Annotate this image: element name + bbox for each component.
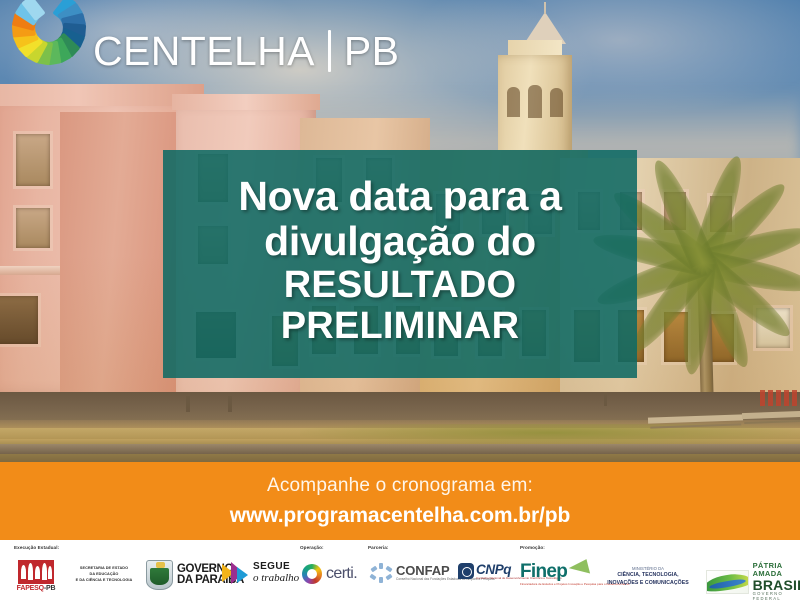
brand-wordmark: CENTELHA PB — [93, 28, 399, 75]
callout-subtitle: Acompanhe o cronograma em: — [267, 475, 533, 497]
caption-execucao: Execução Estadual: — [14, 545, 59, 550]
footer-logo-bar: Execução Estadual: Operação: Parceria: P… — [0, 540, 800, 600]
fapesq-suffix: PB — [46, 585, 55, 592]
outdoor-chairs — [760, 390, 800, 406]
brand-state: PB — [344, 28, 400, 75]
brasil-wordmark: PÁTRIA AMADA BRASIL GOVERNO FEDERAL — [753, 562, 800, 600]
brasil-line-1: PÁTRIA AMADA — [753, 562, 800, 578]
caption-promocao: Promoção: — [520, 545, 545, 550]
centelha-burst-icon — [14, 16, 84, 86]
caption-parceria: Parceria: — [368, 545, 389, 550]
headline-panel: Nova data para a divulgação do RESULTADO… — [163, 150, 637, 378]
certi-ring-icon — [302, 564, 322, 584]
secretaria-line-3: E DA CIÊNCIA E TECNOLOGIA — [76, 578, 133, 582]
ministerio-line-2: INOVAÇÕES E COMUNICAÇÕES — [607, 580, 689, 586]
brand-logo: CENTELHA PB — [14, 16, 399, 86]
secretaria-line-2: DA EDUCAÇÃO — [90, 572, 119, 576]
secretaria-logo: SECRETARIA DE ESTADO DA EDUCAÇÃO E DA CI… — [68, 566, 140, 584]
headline-line-2: divulgação do — [264, 220, 536, 263]
callout-url[interactable]: www.programacentelha.com.br/pb — [230, 504, 570, 528]
ministerio-line-1: CIÊNCIA, TECNOLOGIA, — [617, 572, 678, 578]
caption-operacao: Operação: — [300, 545, 324, 550]
headline-line-4: PRELIMINAR — [281, 307, 519, 347]
fapesq-people-icon — [18, 560, 54, 584]
brasil-flag-swoosh-icon — [706, 570, 749, 594]
brasil-line-2: BRASIL — [753, 578, 800, 593]
curb — [0, 444, 800, 454]
certi-logo: certi. — [302, 564, 357, 584]
grass-strip — [300, 424, 800, 446]
segue-line-1: SEGUE — [253, 562, 299, 573]
segue-wordmark: SEGUE o trabalho — [253, 562, 299, 584]
certi-wordmark: certi. — [326, 565, 357, 583]
confap-burst-icon — [370, 563, 392, 583]
poster-canvas: CENTELHA PB Nova data para a divulgação … — [0, 0, 800, 600]
segue-line-2: o trabalho — [253, 573, 299, 585]
fapesq-name: FAPESQ — [17, 585, 44, 592]
headline-line-1: Nova data para a — [238, 175, 561, 218]
cnpq-seal-icon — [458, 563, 474, 579]
fapesq-logo: FAPESQ-PB — [14, 560, 58, 594]
ministerio-logo: MINISTÉRIO DA CIÊNCIA, TECNOLOGIA, INOVA… — [598, 566, 698, 587]
paraiba-coat-of-arms-icon — [146, 560, 173, 590]
segue-o-trabalho-logo: SEGUE o trabalho — [222, 562, 299, 584]
brasil-logo: PÁTRIA AMADA BRASIL GOVERNO FEDERAL — [706, 562, 800, 600]
segue-chevron-icon — [222, 562, 250, 584]
callout-band: Acompanhe o cronograma em: www.programac… — [0, 462, 800, 540]
fapesq-wordmark: FAPESQ-PB — [14, 585, 58, 592]
brand-divider — [328, 30, 331, 72]
secretaria-line-1: SECRETARIA DE ESTADO — [80, 566, 128, 570]
brand-name: CENTELHA — [93, 28, 315, 75]
brasil-line-3: GOVERNO FEDERAL — [753, 592, 800, 600]
headline-line-3: RESULTADO — [284, 266, 517, 306]
